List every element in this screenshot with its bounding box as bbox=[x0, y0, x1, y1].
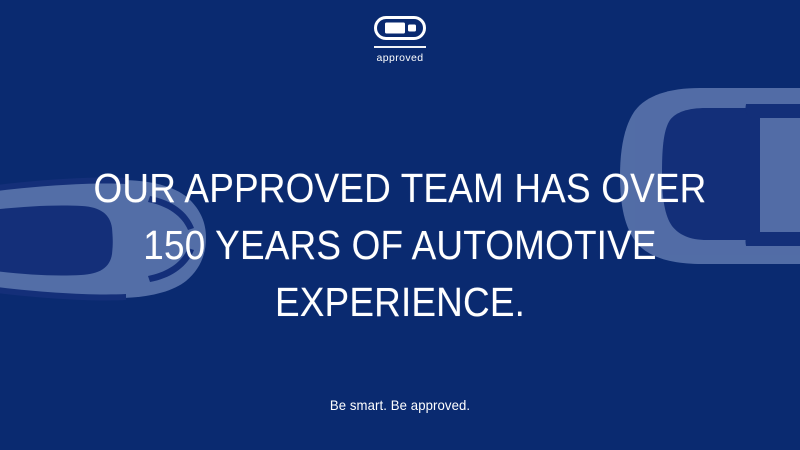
car-top-view-icon bbox=[374, 16, 426, 40]
brand-logo: approved bbox=[0, 16, 800, 64]
logo-divider-rule bbox=[374, 46, 426, 48]
headline-line-2: 150 YEARS OF AUTOMOTIVE bbox=[40, 217, 760, 274]
logo-wordmark: approved bbox=[377, 53, 424, 64]
headline-line-3: EXPERIENCE. bbox=[40, 274, 760, 331]
page-title: OUR APPROVED TEAM HAS OVER 150 YEARS OF … bbox=[40, 160, 760, 331]
tagline: Be smart. Be approved. bbox=[24, 397, 776, 414]
slide-canvas: approved OUR APPROVED TEAM HAS OVER 150 … bbox=[0, 0, 800, 450]
headline-line-1: OUR APPROVED TEAM HAS OVER bbox=[40, 160, 760, 217]
